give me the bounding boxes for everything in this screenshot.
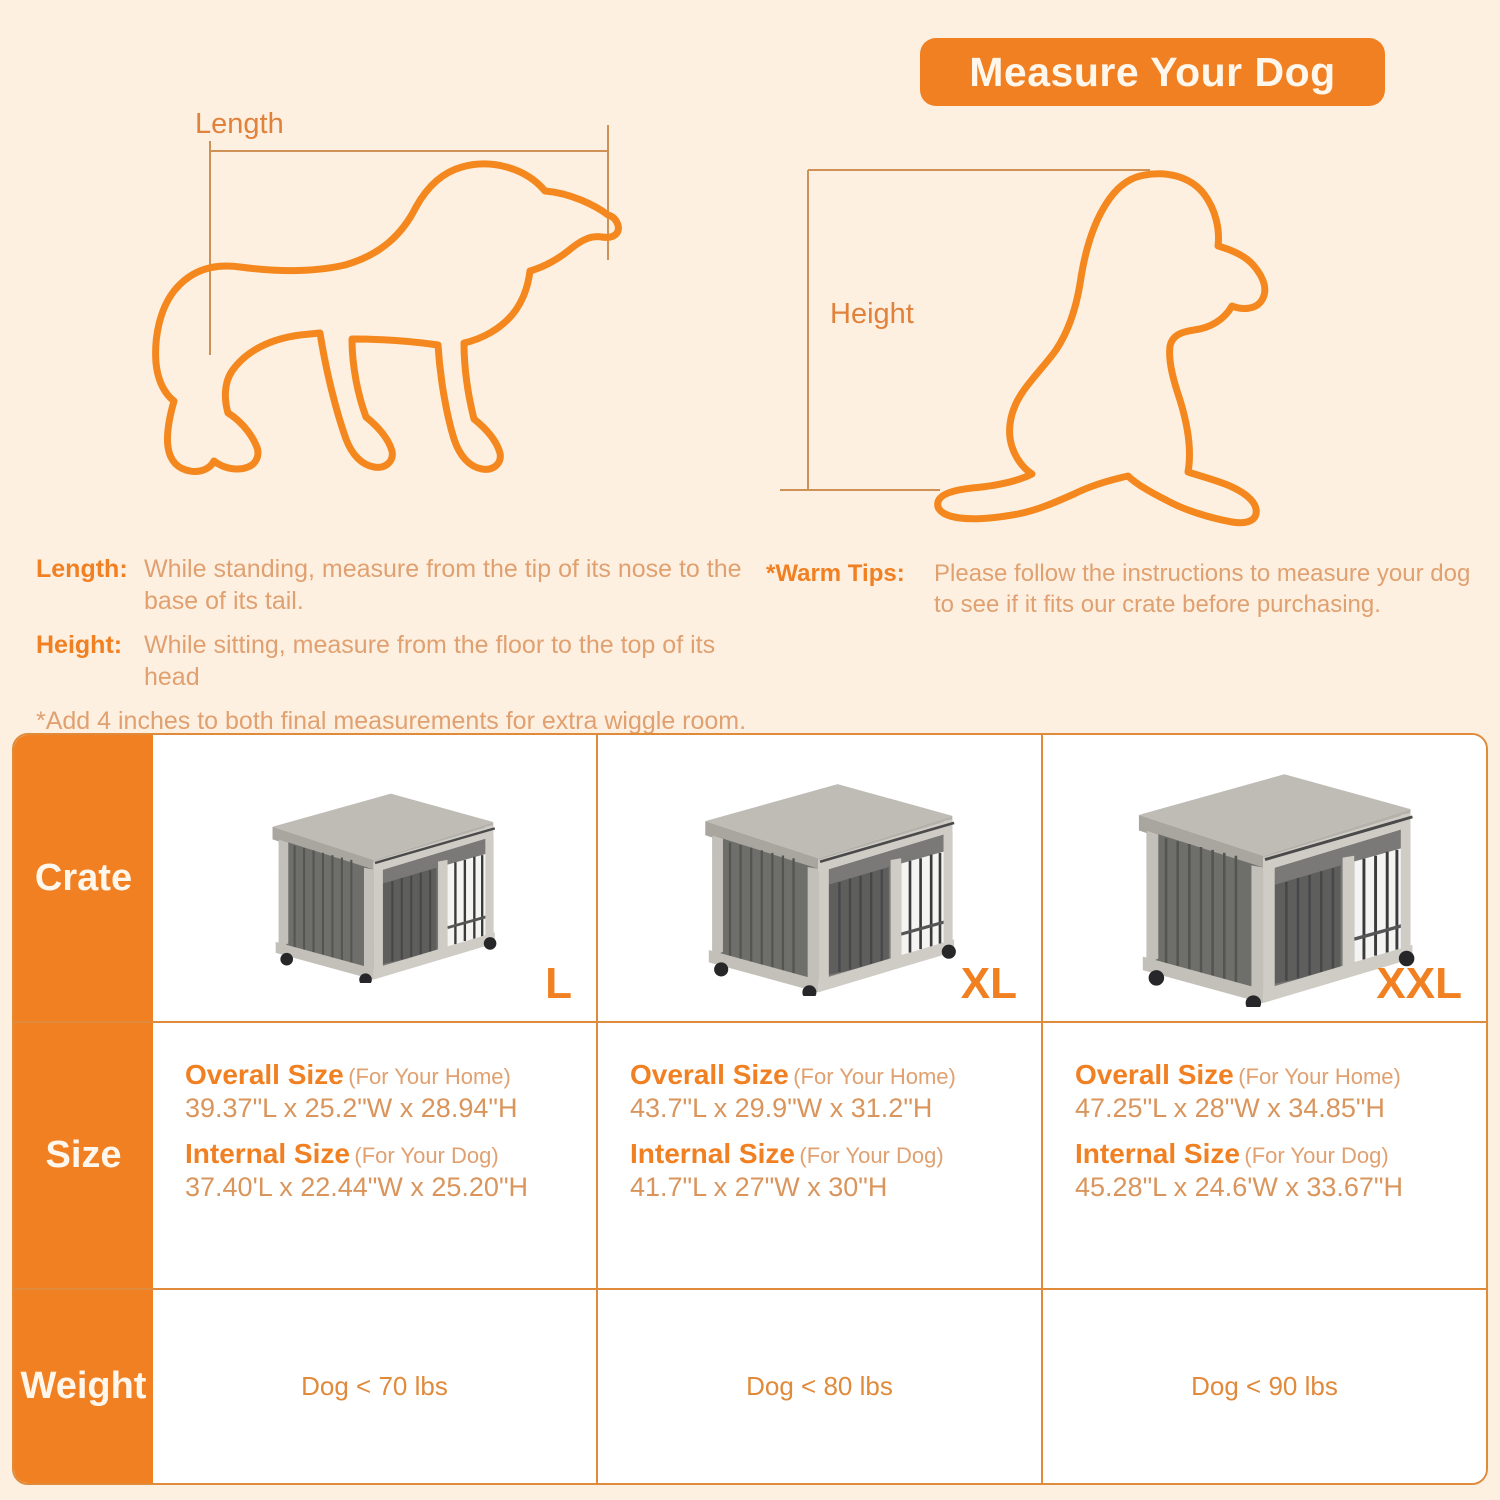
overall-size-heading-xxl: Overall Size (For Your Home) [1075,1059,1486,1091]
size-tag-xl: XL [961,959,1017,1009]
instructions-block: Length: While standing, measure from the… [36,553,756,736]
instruction-key-length: Length: [36,553,144,617]
internal-size-heading-xl: Internal Size (For Your Dog) [630,1138,1041,1170]
internal-size-dims-l: 37.40'L x 22.44"W x 25.20"H [185,1172,596,1203]
length-diagram [140,95,680,525]
page-title-badge: Measure Your Dog [920,38,1385,106]
weight-cell-xl: Dog < 80 lbs [598,1290,1043,1483]
overall-size-title-l: Overall Size [185,1059,344,1090]
crate-cell-xl: XL [598,735,1043,1021]
dog-crate-furniture-icon [241,773,509,983]
row-header-weight: Weight [14,1290,153,1483]
internal-size-heading-l: Internal Size (For Your Dog) [185,1138,596,1170]
size-tag-l: L [545,959,572,1009]
height-diagram [780,150,1300,550]
internal-size-heading-xxl: Internal Size (For Your Dog) [1075,1138,1486,1170]
length-dimension-label: Length [185,108,294,141]
overall-size-title-xxl: Overall Size [1075,1059,1234,1090]
infographic-page: Measure Your Dog Length Height [0,0,1500,1500]
dog-crate-furniture-icon [670,761,970,996]
warm-tips-block: *Warm Tips: Please follow the instructio… [766,558,1496,620]
instruction-key-height: Height: [36,629,144,693]
size-cell-l: Overall Size (For Your Home) 39.37"L x 2… [153,1023,598,1288]
instruction-note: *Add 4 inches to both final measurements… [36,707,756,736]
instruction-value-height: While sitting, measure from the floor to… [144,629,756,693]
crate-cell-l: L [153,735,598,1021]
weight-value-xl: Dog < 80 lbs [746,1371,893,1402]
size-cell-xl: Overall Size (For Your Home) 43.7"L x 29… [598,1023,1043,1288]
crate-cell-xxl: XXL [1043,735,1486,1021]
weight-cell-l: Dog < 70 lbs [153,1290,598,1483]
table-row-crate: Crate [14,735,1486,1023]
overall-size-dims-l: 39.37"L x 25.2"W x 28.94"H [185,1093,596,1124]
instruction-value-length: While standing, measure from the tip of … [144,553,756,617]
height-dimension-label: Height [820,298,924,331]
overall-size-sub-xxl: (For Your Home) [1238,1064,1401,1089]
warm-tips-label: *Warm Tips: [766,558,934,620]
overall-size-heading-l: Overall Size (For Your Home) [185,1059,596,1091]
overall-size-sub-xl: (For Your Home) [793,1064,956,1089]
overall-size-dims-xl: 43.7"L x 29.9"W x 31.2"H [630,1093,1041,1124]
table-row-weight: Weight Dog < 70 lbs Dog < 80 lbs Dog < 9… [14,1290,1486,1483]
size-comparison-table: Crate [12,733,1488,1485]
size-cell-xxl: Overall Size (For Your Home) 47.25"L x 2… [1043,1023,1486,1288]
instruction-row-height: Height: While sitting, measure from the … [36,629,756,693]
overall-size-title-xl: Overall Size [630,1059,789,1090]
warm-tips-text: Please follow the instructions to measur… [934,558,1496,620]
internal-size-title-l: Internal Size [185,1138,350,1169]
internal-size-sub-xl: (For Your Dog) [799,1143,943,1168]
internal-size-sub-xxl: (For Your Dog) [1244,1143,1388,1168]
overall-size-sub-l: (For Your Home) [348,1064,511,1089]
row-header-crate: Crate [14,735,153,1021]
internal-size-dims-xl: 41.7"L x 27"W x 30"H [630,1172,1041,1203]
page-title: Measure Your Dog [969,49,1335,96]
table-row-size: Size Overall Size (For Your Home) 39.37"… [14,1023,1486,1290]
weight-value-l: Dog < 70 lbs [301,1371,448,1402]
row-header-size: Size [14,1023,153,1288]
instruction-row-length: Length: While standing, measure from the… [36,553,756,617]
internal-size-dims-xxl: 45.28"L x 24.6'W x 33.67"H [1075,1172,1486,1203]
internal-size-sub-l: (For Your Dog) [354,1143,498,1168]
overall-size-heading-xl: Overall Size (For Your Home) [630,1059,1041,1091]
weight-cell-xxl: Dog < 90 lbs [1043,1290,1486,1483]
size-tag-xxl: XXL [1376,959,1462,1009]
overall-size-dims-xxl: 47.25"L x 28"W x 34.85"H [1075,1093,1486,1124]
weight-value-xxl: Dog < 90 lbs [1191,1371,1338,1402]
internal-size-title-xxl: Internal Size [1075,1138,1240,1169]
internal-size-title-xl: Internal Size [630,1138,795,1169]
